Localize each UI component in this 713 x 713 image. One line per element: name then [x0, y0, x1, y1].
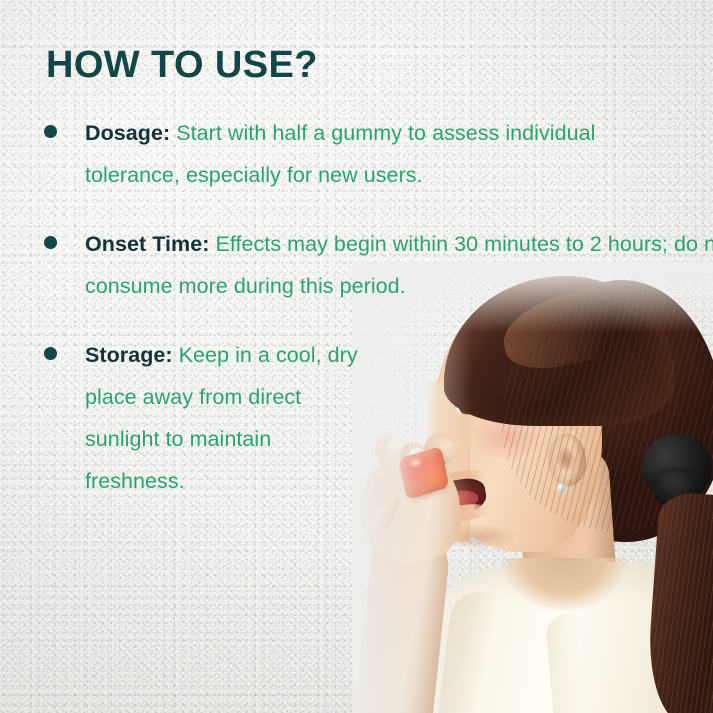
- how-to-use-infographic: HOW TO USE? Dosage: Start with half a gu…: [0, 0, 713, 713]
- list-item: Dosage: Start with half a gummy to asses…: [42, 112, 695, 196]
- text-content: HOW TO USE? Dosage: Start with half a gu…: [0, 0, 713, 713]
- list-item: Storage: Keep in a cool, dry place away …: [42, 334, 695, 502]
- list-item-label: Storage:: [85, 343, 173, 367]
- page-title: HOW TO USE?: [46, 46, 695, 86]
- list-item-label: Dosage:: [85, 121, 170, 145]
- list-item-text: Dosage: Start with half a gummy to asses…: [85, 112, 685, 196]
- bullet-dot-icon: [44, 347, 57, 360]
- list-item-text: Onset Time: Effects may begin within 30 …: [85, 223, 713, 307]
- bullet-dot-icon: [44, 125, 57, 138]
- bullet-dot-icon: [44, 236, 57, 249]
- list-item-text: Storage: Keep in a cool, dry place away …: [85, 334, 365, 502]
- instruction-list: Dosage: Start with half a gummy to asses…: [42, 112, 695, 502]
- list-item-label: Onset Time:: [85, 232, 209, 256]
- list-item: Onset Time: Effects may begin within 30 …: [42, 223, 695, 307]
